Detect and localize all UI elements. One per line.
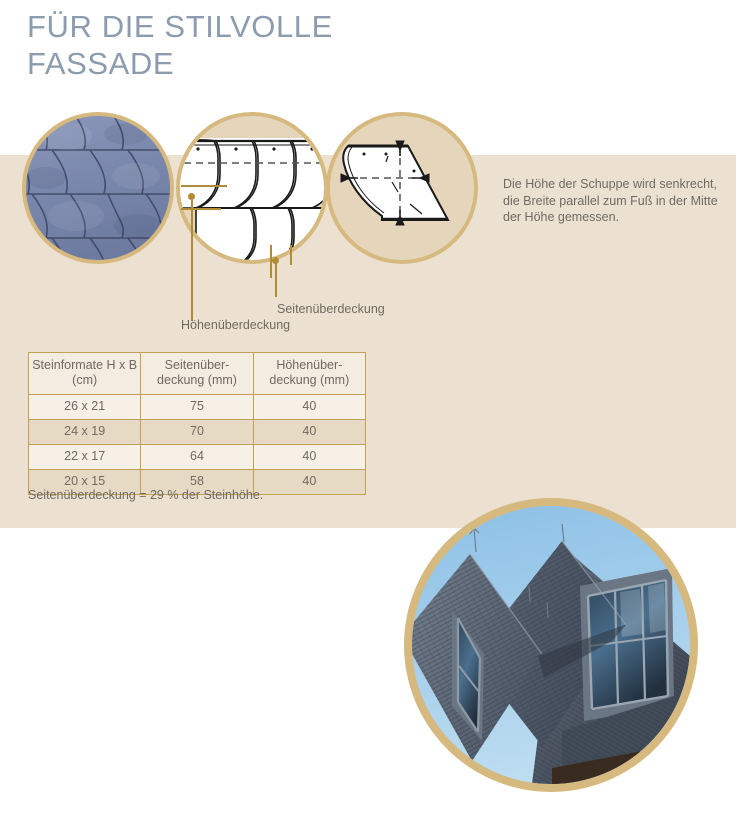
table-cell: 64 [141,445,253,470]
table-cell: 70 [141,420,253,445]
table-footnote: Seitenüberdeckung = 29 % der Steinhöhe. [28,488,263,502]
table-cell: 75 [141,395,253,420]
page-root: FÜR DIE STILVOLLE FASSADE [0,0,736,824]
callout-label-height-overlap: Höhenüberdeckung [181,318,290,332]
leader-stem-height-overlap [191,196,193,321]
table-row: 24 x 19 70 40 [29,420,366,445]
table-cell: 40 [253,445,365,470]
table-cell: 40 [253,420,365,445]
table-cell: 40 [253,470,365,495]
single-scale-drawing-image [330,116,474,260]
table-header-row: Steinformate H x B (cm) Seitenüber- deck… [29,353,366,395]
callout-label-side-overlap: Seitenüberdeckung [277,302,385,316]
leader-stem-side-overlap [275,261,277,297]
spec-table: Steinformate H x B (cm) Seitenüber- deck… [28,352,366,495]
table-cell: 24 x 19 [29,420,141,445]
description-paragraph: Die Höhe der Schuppe wird senkrecht, die… [503,176,731,226]
table-cell: 26 x 21 [29,395,141,420]
table-cell: 22 x 17 [29,445,141,470]
table-row: 26 x 21 75 40 [29,395,366,420]
table-cell: 40 [253,395,365,420]
table-row: 22 x 17 64 40 [29,445,366,470]
slate-scales-closeup-image [26,116,170,260]
table-body: 26 x 21 75 40 24 x 19 70 40 22 x 17 64 4… [29,395,366,495]
facade-photo-image [412,506,690,784]
leader-line-side-overlap-right [290,245,292,265]
table-header-cell: Höhenüber- deckung (mm) [253,353,365,395]
scale-rows-drawing-image [180,116,324,260]
table-header-cell: Steinformate H x B (cm) [29,353,141,395]
table-header-cell: Seitenüber- deckung (mm) [141,353,253,395]
leader-line-height-overlap-bottom [181,208,221,210]
spec-table-wrapper: Steinformate H x B (cm) Seitenüber- deck… [28,352,366,495]
page-title: FÜR DIE STILVOLLE FASSADE [27,8,333,82]
leader-line-height-overlap-top [181,185,227,187]
